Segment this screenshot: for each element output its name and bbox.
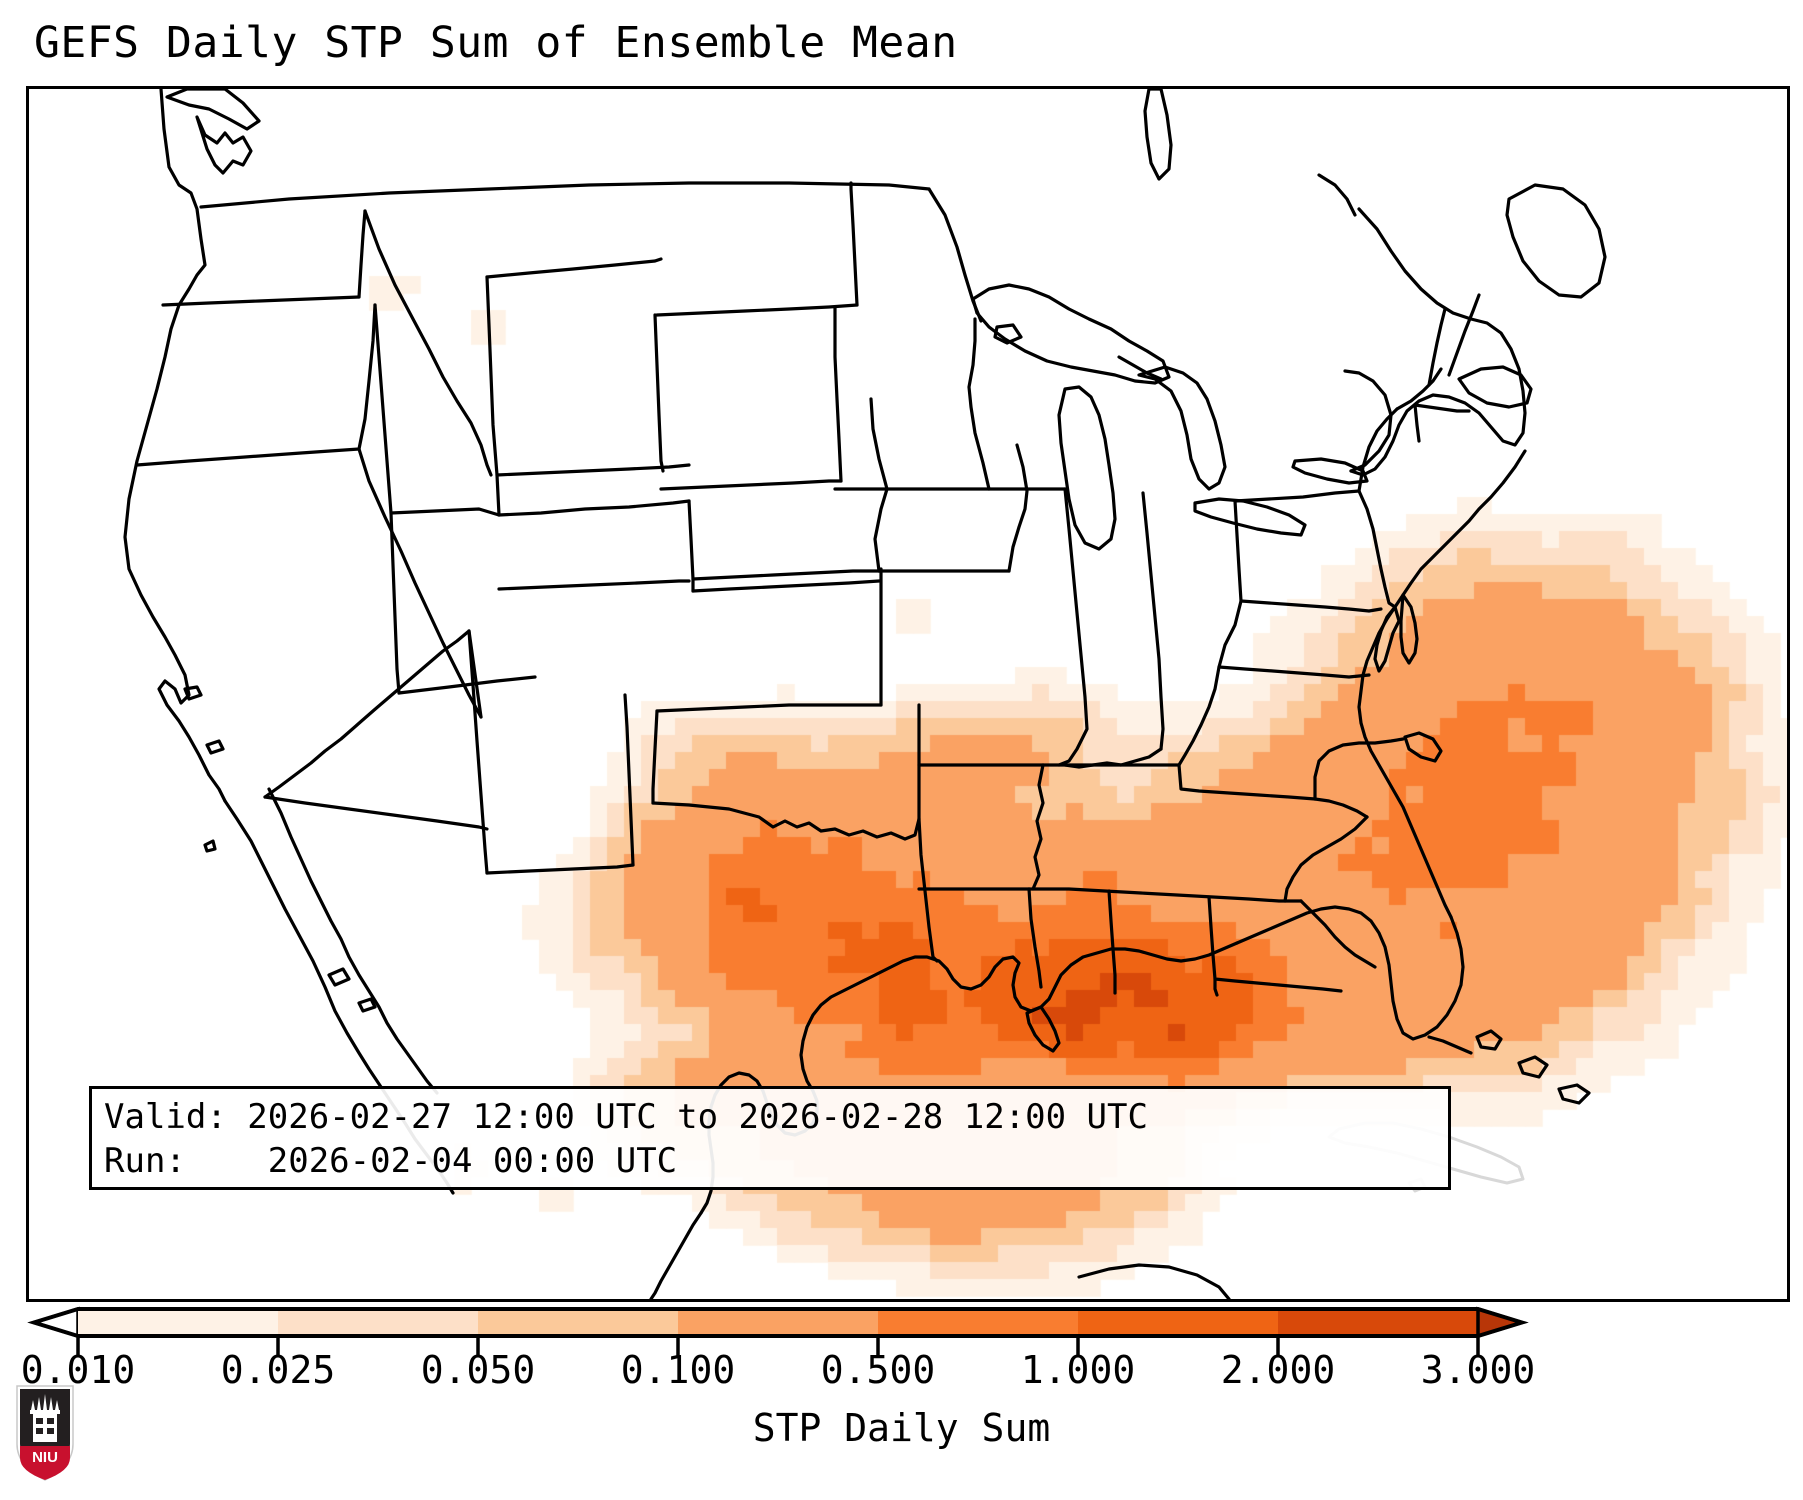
colorbar-tick-label-6: 2.000 [1221, 1348, 1335, 1392]
logo-text: NIU [32, 1449, 58, 1466]
state-line-ok-tx [653, 803, 919, 839]
lake-winnipeg [1145, 89, 1171, 179]
state-line-nm-tx-south [487, 865, 633, 873]
state-line-tn-ms-al-ga [1033, 889, 1301, 901]
state-line-wv-va [1219, 667, 1369, 677]
state-line-co-nm [499, 581, 689, 589]
state-line-wy-co [497, 465, 689, 475]
state-line-ut-co-nm-az [499, 501, 689, 515]
state-line-ut-az [391, 509, 499, 515]
coastline-bahamas-1 [1477, 1031, 1501, 1049]
state-line-al-ga-fl [1209, 897, 1341, 991]
island-baja-2 [359, 999, 375, 1011]
colorbar-axis-label: STP Daily Sum [0, 1406, 1803, 1450]
state-line-nc-sc-ga [1285, 817, 1367, 901]
state-line-co-ks-east [693, 581, 879, 591]
state-line-ks-ok [657, 705, 881, 711]
colorbar-band-2 [478, 1309, 679, 1336]
map-panel: Valid: 2026-02-27 12:00 UTC to 2026-02-2… [26, 86, 1790, 1302]
coastline-yucatan [1079, 1265, 1229, 1299]
colorbar-tick-labels: 0.0100.0250.0500.1000.5001.0002.0003.000 [0, 1348, 1803, 1398]
coastline-pamlico [1405, 733, 1441, 761]
colorbar-tick-label-3: 0.100 [621, 1348, 735, 1392]
state-line-nd-mn [851, 183, 857, 305]
state-line-nm-tx-east [625, 695, 633, 865]
state-line-oh-wv-pa [1179, 501, 1241, 765]
colorbar-tick-label-2: 0.050 [421, 1348, 535, 1392]
coastline-vancouver-island [167, 89, 259, 129]
colorbar-tick-label-4: 0.500 [821, 1348, 935, 1392]
state-line-ok-tx-panhandle [653, 711, 657, 803]
coastline-bahamas-3 [1559, 1085, 1589, 1103]
state-line-la-ms [1029, 889, 1041, 987]
island-small-1 [205, 841, 215, 851]
state-line-tn-nc-va [1315, 799, 1367, 817]
state-line-ky-tn [1179, 765, 1315, 799]
state-line-il-in [1059, 489, 1087, 765]
state-line-nh-me [1449, 295, 1479, 375]
colorbar-tick-label-5: 1.000 [1021, 1348, 1135, 1392]
state-line-wa-or [163, 297, 359, 305]
coastline-mississippi-delta [1027, 1007, 1059, 1051]
state-line-mn-wi [969, 319, 989, 489]
state-line-sd-ne [661, 481, 841, 489]
state-line-wa-id [359, 211, 365, 297]
state-line-ne-ks [693, 571, 879, 579]
state-line-az-nm [469, 631, 487, 873]
state-line-or-ca-nv [137, 305, 375, 465]
coastline-atlantic-northeast [1359, 451, 1525, 917]
state-line-ne-ia-mo [871, 399, 887, 571]
coastline-newfoundland [1507, 185, 1605, 297]
colorbar-band-4 [878, 1309, 1079, 1336]
state-line-ga-fl [1215, 979, 1217, 995]
state-line-wy-ne-sd [655, 315, 663, 471]
gefs-stp-map-figure: GEFS Daily STP Sum of Ensemble Mean [0, 0, 1803, 1500]
island-channel-2 [207, 741, 223, 753]
state-line-mt-wy-nd-sd [487, 259, 661, 277]
state-line-in-oh [1143, 493, 1163, 749]
coastline-chesapeake [1375, 607, 1399, 671]
state-line-ca-nv [359, 449, 481, 717]
state-line-nd-sd-mn [657, 305, 857, 315]
valid-time-line: Valid: 2026-02-27 12:00 UTC to 2026-02-2… [104, 1095, 1436, 1139]
coastline-mexico-east [651, 1213, 701, 1299]
coastline-southeast-florida [1237, 907, 1463, 1039]
lake-huron [1139, 367, 1225, 489]
page-title: GEFS Daily STP Sum of Ensemble Mean [34, 18, 958, 68]
niu-logo: NIU [14, 1382, 76, 1482]
forecast-info-box: Valid: 2026-02-27 12:00 UTC to 2026-02-2… [89, 1086, 1451, 1190]
coastline-florida-keys [1429, 1037, 1471, 1053]
state-line-id-ut-wy [487, 277, 499, 515]
state-line-co-ks-ne [689, 501, 693, 591]
coastline-gulf-of-california [269, 789, 437, 1093]
coastline-pacific [125, 89, 225, 801]
colorbar-band-5 [1078, 1309, 1279, 1336]
colorbar-band-3 [678, 1309, 879, 1336]
state-line-az-nm-mexico [265, 797, 487, 829]
state-line-ms-al [1109, 891, 1115, 993]
lake-erie [1195, 499, 1305, 535]
state-line-sc-ga [1301, 901, 1375, 967]
colorbar-band-1 [278, 1309, 479, 1336]
run-time-line: Run: 2026-02-04 00:00 UTC [104, 1139, 1436, 1183]
colorbar-band-6 [1278, 1309, 1479, 1336]
state-line-md-va-wv [1241, 601, 1381, 611]
state-line-ct-ny [1415, 405, 1419, 441]
border-canada-49 [201, 183, 929, 207]
state-line-ma-ct-ri [1415, 405, 1469, 411]
island-baja-1 [329, 969, 349, 985]
state-line-ar-ms-tn [1029, 765, 1043, 889]
colorbar-tick-label-7: 3.000 [1421, 1348, 1535, 1392]
coastline-hudson-area [1319, 175, 1355, 215]
island-channel-1 [185, 687, 201, 699]
state-line-va-nc [1315, 739, 1403, 799]
colorbar-tick-label-1: 0.025 [221, 1348, 335, 1392]
coastline-bahamas-2 [1519, 1057, 1547, 1077]
state-line-ia-il-wi [1009, 445, 1027, 571]
state-line-pa-ny [1235, 491, 1359, 501]
state-line-sd-mn-ia [835, 307, 841, 481]
coastline-nova-scotia [1459, 367, 1531, 407]
colorbar-band-0 [78, 1309, 279, 1336]
coastline-delmarva [1401, 595, 1417, 663]
state-line-pa-md-de-nj [1359, 491, 1395, 607]
